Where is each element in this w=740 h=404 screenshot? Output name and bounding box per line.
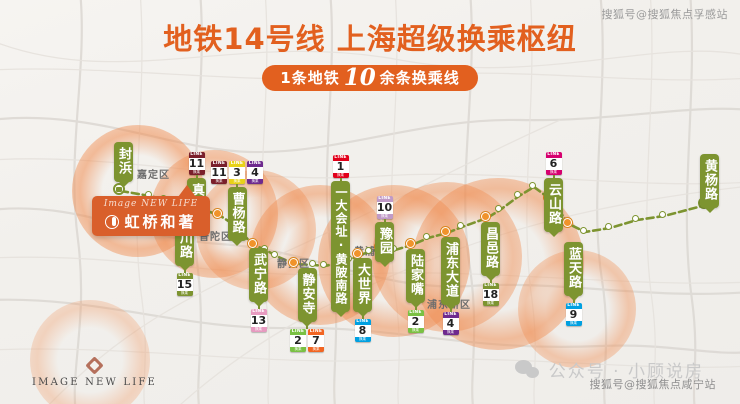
line-badge-number: 2 [290, 335, 306, 347]
line-badge-sub: 换乘 [211, 179, 227, 184]
callout-main: 虹桥和著 [105, 211, 196, 232]
transfer-lines-below: LINE15换乘 [177, 273, 193, 296]
station-stop-node [495, 205, 502, 212]
station-封浜[interactable]: 封浜 [114, 142, 133, 182]
line-badge-8: LINE8换乘 [355, 319, 371, 342]
page-title: 地铁14号线 上海超级换乘枢纽 [0, 24, 740, 56]
station-一大会址·黄陂南路[interactable]: LINE1换乘一大会址·黄陂南路 [331, 155, 350, 312]
wechat-icon [515, 360, 541, 380]
station-豫园[interactable]: LINE10换乘豫园 [375, 196, 394, 262]
transfer-lines-above: LINE10换乘 [377, 196, 393, 219]
line-badge-number: 4 [247, 167, 263, 179]
line-badge-number: 1 [333, 161, 349, 173]
station-stop-node [457, 222, 464, 229]
station-name-plaque: 曹杨路 [228, 187, 247, 241]
line-badge-sub: 换乘 [308, 347, 324, 352]
line-badge-number: 10 [377, 202, 393, 214]
transfer-lines-above: LINE11换乘 [189, 152, 205, 175]
station-stop-node [365, 247, 372, 254]
line-badge-11: LINE11换乘 [211, 161, 227, 184]
station-name-plaque: 陆家嘴 [406, 249, 425, 303]
station-静安寺[interactable]: 静安寺LINE2换乘LINE7换乘 [290, 268, 324, 352]
transfer-lines-below: LINE9换乘 [566, 303, 582, 326]
transfer-lines-above: LINE6换乘 [546, 152, 562, 175]
line-badge-sub: 换乘 [443, 330, 459, 335]
line-badge-2: LINE2换乘 [408, 310, 424, 333]
line-badge-4: LINE4换乘 [247, 161, 263, 184]
station-云山路[interactable]: LINE6换乘云山路 [544, 152, 563, 232]
diamond-ornament-icon [85, 356, 103, 374]
line-badge-7: LINE7换乘 [308, 329, 324, 352]
watermark-top-right: 搜狐号@搜狐焦点孚感站 [602, 6, 729, 22]
transfer-lines-below: LINE2换乘 [408, 310, 424, 333]
line-badge-2: LINE2换乘 [290, 329, 306, 352]
station-昌邑路[interactable]: 昌邑路LINE18换乘 [481, 222, 500, 306]
brand-name: IMAGE NEW LIFE [32, 377, 157, 388]
line-badge-sub: 换乘 [566, 321, 582, 326]
station-stop-node [309, 260, 316, 267]
line-badge-3: LINE3换乘 [229, 161, 245, 184]
subtitle-count: 10 [340, 66, 380, 89]
station-stop-node [580, 227, 587, 234]
transfer-lines-below: LINE8换乘 [355, 319, 371, 342]
line-badge-sub: 换乘 [483, 301, 499, 306]
callout-script-text: Image NEW LIFE [104, 200, 198, 209]
line-badge-number: 7 [308, 335, 324, 347]
line-badge-15: LINE15换乘 [177, 273, 193, 296]
line-badge-number: 18 [483, 289, 499, 301]
station-name-plaque: 昌邑路 [481, 222, 500, 276]
transfer-node [441, 227, 450, 236]
station-name-plaque: 大世界 [353, 258, 372, 312]
line-badge-6: LINE6换乘 [546, 152, 562, 175]
transfer-lines-below: LINE4换乘 [443, 312, 459, 335]
station-黄杨路[interactable]: 黄杨路 [700, 154, 719, 208]
line-badge-sub: 换乘 [177, 291, 193, 296]
property-name: 虹桥和著 [124, 211, 196, 232]
station-name-plaque: 黄杨路 [700, 154, 719, 208]
station-name-plaque: 武宁路 [249, 248, 268, 302]
station-大世界[interactable]: 大世界LINE8换乘 [353, 258, 372, 342]
station-stop-node [529, 182, 536, 189]
line-badge-18: LINE18换乘 [483, 283, 499, 306]
line-badge-number: 6 [546, 158, 562, 170]
subtitle-part-a: 1条地铁 [280, 67, 339, 88]
station-stop-node [659, 211, 666, 218]
station-name-plaque: 一大会址·黄陂南路 [331, 181, 350, 312]
line-badge-9: LINE9换乘 [566, 303, 582, 326]
line-badge-number: 11 [189, 158, 205, 170]
transfer-lines-above: LINE1换乘 [333, 155, 349, 178]
station-stop-node [423, 233, 430, 240]
station-stop-node [632, 215, 639, 222]
property-logo-icon [105, 215, 119, 229]
station-stop-node [605, 223, 612, 230]
station-name-plaque: 云山路 [544, 178, 563, 232]
station-浦东大道[interactable]: 浦东大道LINE4换乘 [441, 237, 460, 335]
brand-logo: IMAGE NEW LIFE [32, 359, 157, 388]
transfer-node [563, 218, 572, 227]
subtitle-part-c: 余条换乘线 [380, 67, 460, 88]
line-badge-4: LINE4换乘 [443, 312, 459, 335]
transfer-node [289, 258, 298, 267]
station-曹杨路[interactable]: LINE11换乘LINE3换乘LINE4换乘曹杨路 [211, 161, 263, 241]
station-name-plaque: 豫园 [375, 222, 394, 262]
station-stop-node [271, 251, 278, 258]
watermark-bottom-right: 搜狐号@搜狐焦点咸宁站 [590, 376, 717, 392]
line-badge-sub: 换乘 [355, 337, 371, 342]
station-name-plaque: 浦东大道 [441, 237, 460, 305]
metro-map-infographic: 嘉定区普陀区静安区黄浦区浦东新区 封浜LINE11换乘真如铜川路LINE15换乘… [0, 0, 740, 404]
station-蓝天路[interactable]: 蓝天路LINE9换乘 [564, 242, 583, 326]
line-badge-number: 8 [355, 325, 371, 337]
line-badge-10: LINE10换乘 [377, 196, 393, 219]
transfer-node [406, 239, 415, 248]
line-badge-number: 4 [443, 318, 459, 330]
transfer-lines-below: LINE13换乘 [251, 309, 267, 332]
transfer-lines-below: LINE18换乘 [483, 283, 499, 306]
line-badge-number: 2 [408, 316, 424, 328]
transfer-lines-above: LINE11换乘LINE3换乘LINE4换乘 [211, 161, 263, 184]
station-name-plaque: 封浜 [114, 142, 133, 182]
station-stop-node [514, 191, 521, 198]
line-badge-sub: 换乘 [290, 347, 306, 352]
property-callout[interactable]: Image NEW LIFE 虹桥和著 [92, 196, 210, 236]
line-badge-number: 11 [211, 167, 227, 179]
line-badge-sub: 换乘 [408, 328, 424, 333]
district-label: 嘉定区 [137, 166, 170, 181]
header: 地铁14号线 上海超级换乘枢纽 1条地铁 10 余条换乘线 [0, 24, 740, 91]
transfer-lines-below: LINE2换乘LINE7换乘 [290, 329, 324, 352]
station-陆家嘴[interactable]: 陆家嘴LINE2换乘 [406, 249, 425, 333]
station-name-plaque: 蓝天路 [564, 242, 583, 296]
station-name-plaque: 静安寺 [298, 268, 317, 322]
line-badge-13: LINE13换乘 [251, 309, 267, 332]
line-badge-number: 13 [251, 315, 267, 327]
line-badge-1: LINE1换乘 [333, 155, 349, 178]
line-badge-number: 3 [229, 167, 245, 179]
line-badge-11: LINE11换乘 [189, 152, 205, 175]
subtitle-pill: 1条地铁 10 余条换乘线 [262, 65, 477, 91]
line-badge-sub: 换乘 [251, 327, 267, 332]
transfer-node [353, 249, 362, 258]
line-badge-number: 9 [566, 309, 582, 321]
line-badge-number: 15 [177, 279, 193, 291]
line-badge-sub: 换乘 [247, 179, 263, 184]
station-stop-node [320, 261, 327, 268]
station-武宁路[interactable]: 武宁路LINE13换乘 [249, 248, 268, 332]
transfer-node [481, 212, 490, 221]
